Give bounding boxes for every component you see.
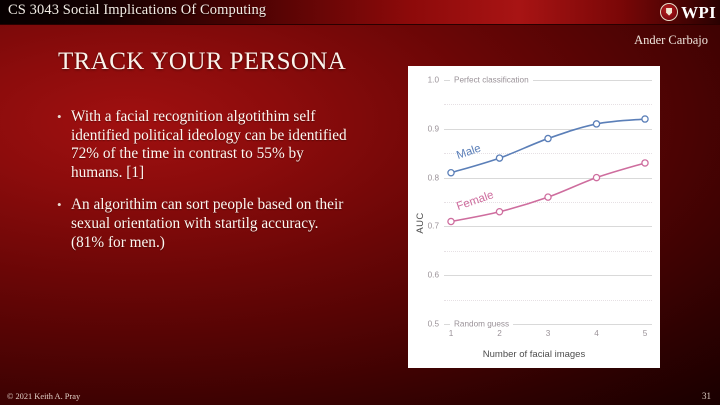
chart-data-point — [496, 155, 502, 161]
chart-x-tick-label: 1 — [449, 329, 454, 338]
course-title: CS 3043 Social Implications Of Computing — [8, 2, 266, 19]
chart-data-point — [496, 209, 502, 215]
bullet-text: With a facial recognition algotithim sel… — [71, 108, 355, 182]
chart-x-tick-label: 4 — [594, 329, 599, 338]
bullet-text: An algorithim can sort people based on t… — [71, 196, 355, 252]
chart-y-axis-label: AUC — [415, 212, 426, 233]
chart-x-tick-label: 3 — [546, 329, 551, 338]
chart-plot-area: 0.50.60.70.80.91.0Perfect classification… — [444, 80, 652, 324]
chart-y-tick-label: 0.5 — [428, 320, 439, 329]
list-item: • An algorithim can sort people based on… — [55, 196, 355, 252]
bullet-marker-icon: • — [55, 196, 71, 215]
chart-data-point — [448, 218, 454, 224]
chart-x-tick-label: 2 — [497, 329, 502, 338]
bullet-marker-icon: • — [55, 108, 71, 127]
chart-y-tick-label: 0.9 — [428, 124, 439, 133]
auc-line-chart: AUC 0.50.60.70.80.91.0Perfect classifica… — [408, 66, 660, 368]
chart-y-tick-label: 0.8 — [428, 173, 439, 182]
chart-series-layer — [444, 80, 652, 324]
chart-data-point — [593, 175, 599, 181]
slide-root: CS 3043 Social Implications Of Computing… — [0, 0, 720, 405]
chart-data-point — [448, 170, 454, 176]
list-item: • With a facial recognition algotithim s… — [55, 108, 355, 182]
slide-header-bar: CS 3043 Social Implications Of Computing… — [0, 0, 720, 25]
wpi-logo-text: WPI — [681, 4, 716, 21]
chart-inner: AUC 0.50.60.70.80.91.0Perfect classifica… — [408, 66, 660, 368]
chart-x-axis-label: Number of facial images — [408, 349, 660, 360]
chart-line-male — [451, 119, 645, 173]
page-title: TRACK YOUR PERSONA — [58, 48, 346, 76]
chart-y-tick-label: 1.0 — [428, 76, 439, 85]
footer-page-number: 31 — [702, 391, 711, 401]
chart-y-tick-label: 0.7 — [428, 222, 439, 231]
chart-x-tick-label: 5 — [643, 329, 648, 338]
chart-data-point — [642, 160, 648, 166]
chart-data-point — [545, 194, 551, 200]
chart-data-point — [642, 116, 648, 122]
author-name: Ander Carbajo — [634, 33, 708, 48]
chart-y-tick-label: 0.6 — [428, 271, 439, 280]
bullet-list: • With a facial recognition algotithim s… — [55, 108, 355, 266]
wpi-logo: WPI — [660, 1, 716, 23]
chart-line-female — [451, 163, 645, 222]
chart-data-point — [593, 121, 599, 127]
chart-data-point — [545, 135, 551, 141]
wpi-seal-icon — [660, 3, 678, 21]
footer-copyright: © 2021 Keith A. Pray — [7, 392, 80, 401]
